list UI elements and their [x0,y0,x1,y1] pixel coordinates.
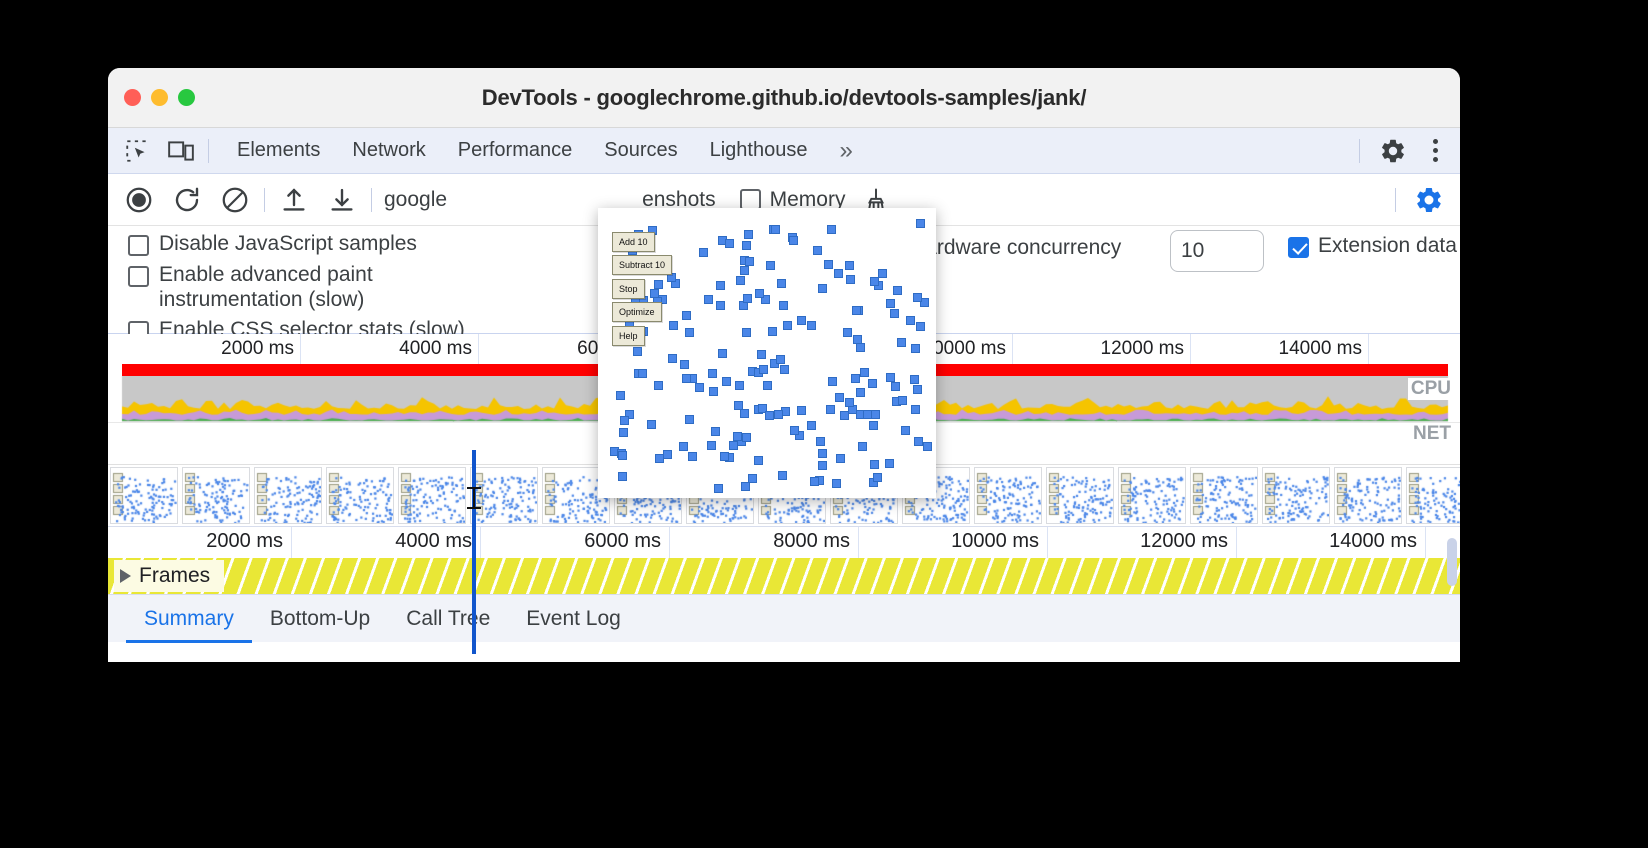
filmstrip-frame[interactable] [1406,467,1460,524]
panel-tab-bar: Elements Network Performance Sources Lig… [108,128,1460,174]
details-tab-bar: Summary Bottom-Up Call Tree Event Log [108,594,1460,642]
preview-square [619,428,628,437]
preview-square [735,381,744,390]
overview-tick-label: 2000 ms [221,338,300,360]
tabbar-right-divider [1359,139,1360,163]
preview-square [740,266,749,275]
timeline-tick [669,527,670,559]
tab-bottom-up[interactable]: Bottom-Up [252,595,388,643]
preview-square [914,437,923,446]
overview-tick-label: 12000 ms [1101,338,1190,360]
preview-square [633,347,642,356]
preview-square [789,236,798,245]
timeline-tick-label: 8000 ms [773,530,858,553]
extension-data-label: Extension data [1318,234,1430,259]
capture-settings-left-column: Disable JavaScript samples Enable advanc… [128,232,465,349]
preview-square [720,452,729,461]
preview-square [736,276,745,285]
toolbar-divider-2 [371,188,372,212]
timeline-tick-label: 10000 ms [951,530,1047,553]
preview-square [711,427,720,436]
preview-square [906,316,915,325]
frames-track-label: Frames [139,564,210,588]
preview-square [748,474,757,483]
overview-tick [300,334,301,364]
preview-square [886,373,895,382]
preview-square [893,286,902,295]
preview-square [835,393,844,402]
timeline-tick-label: 12000 ms [1140,530,1236,553]
preview-square [766,261,775,270]
preview-square [845,398,854,407]
preview-square [869,421,878,430]
preview-square [654,381,663,390]
preview-square [824,260,833,269]
filmstrip-frame[interactable] [254,467,322,524]
preview-square [744,230,753,239]
memory-checkbox[interactable] [740,189,761,210]
preview-square [638,369,647,378]
preview-square [913,293,922,302]
filmstrip-thumbnail [183,468,249,524]
preview-square [704,295,713,304]
filmstrip-frame[interactable] [398,467,466,524]
preview-square [818,284,827,293]
preview-button-subtract-10[interactable]: Subtract 10 [612,255,672,275]
timeline-tick-label: 6000 ms [584,530,669,553]
preview-square [647,420,656,429]
hardware-concurrency-label: Hardware concurrency [910,236,1121,260]
tabbar-divider [208,139,209,163]
preview-square [913,385,922,394]
filmstrip-playhead[interactable] [472,536,476,654]
filmstrip-frame[interactable] [182,467,250,524]
preview-square [768,327,777,336]
preview-square [840,411,849,420]
download-icon[interactable] [325,183,359,217]
preview-square [699,248,708,257]
preview-square [878,269,887,278]
preview-square [688,452,697,461]
tab-network[interactable]: Network [336,139,441,162]
preview-square [783,321,792,330]
gear-icon-blue[interactable] [1412,183,1446,217]
overview-tick [1190,334,1191,364]
preview-square [853,335,862,344]
preview-square [755,289,764,298]
preview-square [852,306,861,315]
filmstrip-thumbnail [1407,468,1460,524]
preview-square [832,479,841,488]
preview-square [708,369,717,378]
preview-square [685,415,694,424]
preview-square [843,328,852,337]
disable-js-samples-checkbox[interactable] [128,235,149,256]
preview-square [797,316,806,325]
filmstrip-thumbnail [1047,468,1113,524]
preview-square [620,416,629,425]
preview-square [873,473,882,482]
preview-square [818,449,827,458]
filmstrip-thumbnail [975,468,1041,524]
toolbar-divider-3 [1395,188,1396,212]
preview-button-optimize[interactable]: Optimize [612,302,662,322]
preview-square [757,350,766,359]
filmstrip-frame[interactable] [1334,467,1402,524]
preview-square [754,456,763,465]
preview-square [910,375,919,384]
preview-square [695,383,704,392]
preview-square [742,241,751,250]
advanced-paint-label: Enable advanced paint instrumentation (s… [159,263,428,313]
preview-square [707,441,716,450]
tab-event-log[interactable]: Event Log [508,595,639,643]
timeline-tick [1425,527,1426,559]
upload-icon[interactable] [277,183,311,217]
preview-square [816,437,825,446]
title-bar: DevTools - googlechrome.github.io/devtoo… [108,68,1460,128]
preview-square [836,454,845,463]
preview-square [709,387,718,396]
filmstrip-thumbnail [1191,468,1257,524]
preview-square [890,309,899,318]
preview-square [886,299,895,308]
window-title: DevTools - googlechrome.github.io/devtoo… [108,85,1460,111]
filmstrip-frame[interactable] [110,467,178,524]
timeline-tick-label: 2000 ms [206,530,291,553]
preview-square [827,225,836,234]
filmstrip-frame[interactable] [974,467,1042,524]
timeline-tick [858,527,859,559]
preview-square [923,442,932,451]
timeline-scrollbar[interactable] [1447,538,1457,586]
advanced-paint-checkbox[interactable] [128,266,149,287]
tab-call-tree[interactable]: Call Tree [388,595,508,643]
tab-elements[interactable]: Elements [221,139,336,162]
preview-square [813,246,822,255]
cpu-band-label: CPU [1408,378,1454,400]
tab-lighthouse[interactable]: Lighthouse [694,139,824,162]
tab-summary[interactable]: Summary [126,595,252,643]
preview-square [742,433,751,442]
inspect-icon[interactable] [122,136,152,166]
preview-button-stop[interactable]: Stop [612,279,645,299]
timeline-ruler[interactable]: 2000 ms4000 ms6000 ms8000 ms10000 ms1200… [108,526,1460,558]
preview-square [778,471,787,480]
filmstrip-frame[interactable] [1190,467,1258,524]
preview-button-add-10[interactable]: Add 10 [612,232,655,252]
filmstrip-frame[interactable] [1262,467,1330,524]
device-toolbar-icon[interactable] [166,136,196,166]
preview-square [845,261,854,270]
preview-square [618,472,627,481]
tab-performance[interactable]: Performance [442,139,589,162]
preview-square [655,454,664,463]
timeline-tick-label: 4000 ms [395,530,480,553]
preview-square [777,279,786,288]
preview-square [716,301,725,310]
preview-square [685,328,694,337]
preview-square [870,277,879,286]
preview-square [916,322,925,331]
preview-square [682,374,691,383]
preview-square [851,374,860,383]
toolbar-divider-1 [264,188,265,212]
preview-square [807,421,816,430]
filmstrip-thumbnail [1335,468,1401,524]
preview-square [759,365,768,374]
more-tabs-button[interactable]: » [823,137,868,165]
preview-square [916,219,925,228]
timeline-tick [1236,527,1237,559]
overview-tick [1012,334,1013,364]
preview-square [856,343,865,352]
preview-square [741,482,750,491]
preview-square [863,410,872,419]
timeline-tick-label: 14000 ms [1329,530,1425,553]
filmstrip-thumbnail [255,468,321,524]
timeline-tick [291,527,292,559]
preview-square [807,321,816,330]
preview-square [722,377,731,386]
preview-square [763,381,772,390]
preview-square [668,354,677,363]
preview-square [716,281,725,290]
preview-square [860,368,869,377]
filmstrip-thumbnail [399,468,465,524]
preview-square [742,328,751,337]
overview-tick [1368,334,1369,364]
timeline-tick [480,527,481,559]
preview-square [828,377,837,386]
preview-square [679,442,688,451]
preview-square [718,349,727,358]
trace-url-label: google [384,188,447,212]
preview-square [871,410,880,419]
timeline-tick [1047,527,1048,559]
preview-square [834,269,843,278]
preview-square [818,461,827,470]
filmstrip-thumbnail [111,468,177,524]
chevron-right-icon[interactable] [120,569,131,583]
preview-square [856,388,865,397]
preview-square [654,280,663,289]
tab-sources[interactable]: Sources [588,139,693,162]
overview-tick-label: 4000 ms [399,338,478,360]
net-band-label: NET [1410,423,1454,445]
preview-square [911,405,920,414]
filmstrip-frame[interactable] [1118,467,1186,524]
preview-square [901,426,910,435]
frames-track[interactable]: Frames [108,558,1460,594]
preview-square [776,355,785,364]
preview-square [774,410,783,419]
preview-square [618,451,627,460]
preview-square [669,321,678,330]
preview-square [846,275,855,284]
filmstrip-thumbnail [1119,468,1185,524]
preview-square [920,298,929,307]
preview-square [897,338,906,347]
preview-square [826,405,835,414]
playhead-handle-icon[interactable] [465,486,483,508]
preview-square [771,225,780,234]
reload-record-icon[interactable] [170,183,204,217]
preview-square [682,311,691,320]
preview-square [870,460,879,469]
preview-square [898,396,907,405]
advanced-paint-row[interactable]: Enable advanced paint instrumentation (s… [128,263,428,313]
preview-square [779,301,788,310]
disable-js-samples-row[interactable]: Disable JavaScript samples [128,232,465,257]
filmstrip-frame[interactable] [326,467,394,524]
preview-square [858,442,867,451]
record-icon[interactable] [122,183,156,217]
frames-track-header[interactable]: Frames [114,560,224,592]
preview-square [797,406,806,415]
devtools-window: DevTools - googlechrome.github.io/devtoo… [108,68,1460,662]
preview-square [810,477,819,486]
overview-tick-label: 14000 ms [1279,338,1368,360]
preview-square [616,391,625,400]
preview-square [911,344,920,353]
preview-button-help[interactable]: Help [612,326,645,346]
preview-square [725,239,734,248]
extension-data-checkbox[interactable] [1288,237,1309,258]
clear-icon[interactable] [218,183,252,217]
preview-square [891,382,900,391]
preview-square [745,257,754,266]
preview-square [885,459,894,468]
filmstrip-thumbnail [327,468,393,524]
preview-square [780,365,789,374]
preview-square [790,426,799,435]
disable-js-samples-label: Disable JavaScript samples [159,232,417,257]
filmstrip-frame[interactable] [1046,467,1114,524]
preview-square [663,450,672,459]
preview-square [743,294,752,303]
preview-square [733,432,742,441]
preview-square [740,409,749,418]
overview-tick [478,334,479,364]
kebab-menu-icon[interactable] [1420,136,1450,166]
extension-data-row[interactable]: Extension data [1288,234,1430,259]
hardware-concurrency-input[interactable] [1170,230,1264,272]
screenshot-preview-popup: Add 10Subtract 10StopOptimizeHelp [598,208,936,498]
preview-square [680,360,689,369]
preview-square [868,379,877,388]
filmstrip-thumbnail [1263,468,1329,524]
gear-icon[interactable] [1378,136,1408,166]
preview-square [765,411,774,420]
preview-square [714,484,723,493]
